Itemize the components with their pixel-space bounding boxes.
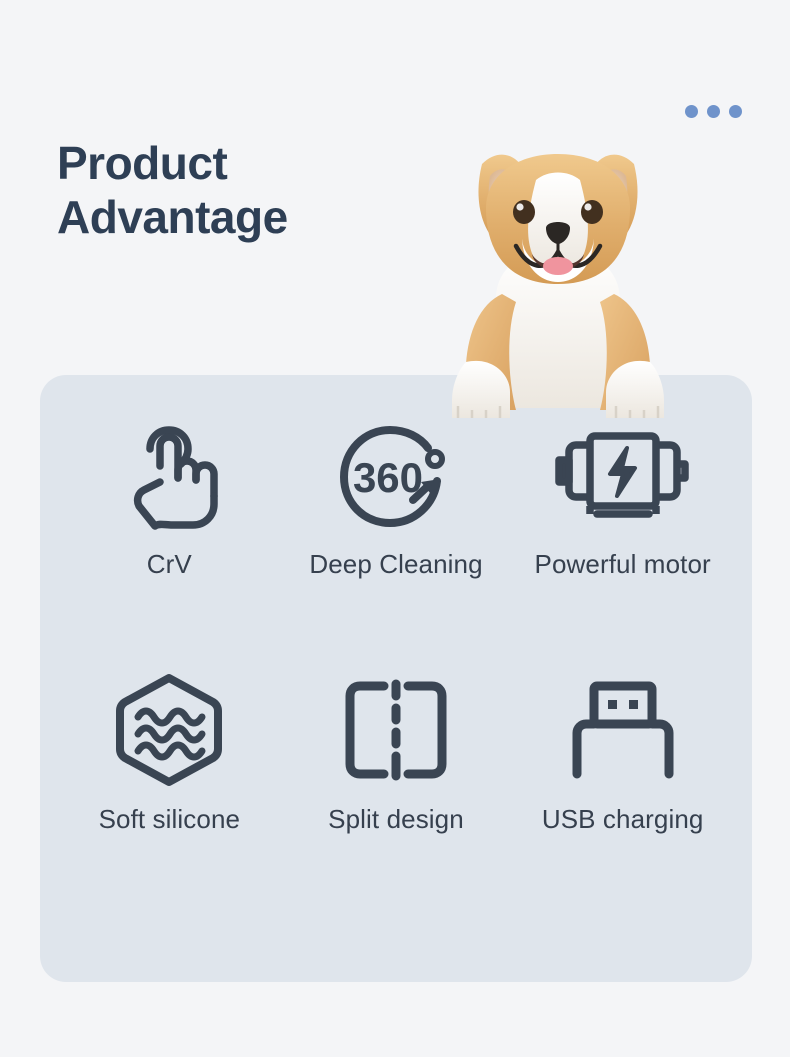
feature-label-soft-silicone: Soft silicone: [99, 804, 240, 835]
features-grid: CrV 360 Deep Cleaning: [40, 375, 752, 982]
corgi-hero-image: [424, 118, 692, 418]
usb-plug-icon: [568, 670, 678, 790]
360-rotation-icon: 360: [332, 417, 460, 535]
motor-battery-icon: [555, 417, 691, 535]
split-brackets-icon: [340, 670, 452, 790]
decor-dot-3: [729, 105, 742, 118]
feature-item-powerful-motor[interactable]: Powerful motor: [509, 417, 736, 670]
features-card: CrV 360 Deep Cleaning: [40, 375, 752, 982]
feature-label-deep-cleaning: Deep Cleaning: [309, 549, 482, 580]
tap-hand-icon: [117, 417, 221, 535]
feature-item-deep-cleaning[interactable]: 360 Deep Cleaning: [283, 417, 510, 670]
page-title-line-1: Product: [57, 136, 288, 190]
feature-item-soft-silicone[interactable]: Soft silicone: [56, 670, 283, 923]
feature-label-usb-charging: USB charging: [542, 804, 704, 835]
decor-dot-2: [707, 105, 720, 118]
feature-label-crv: CrV: [147, 549, 192, 580]
page-title-line-2: Advantage: [57, 190, 288, 244]
product-advantage-page: Product Advantage: [0, 0, 790, 1057]
feature-label-powerful-motor: Powerful motor: [535, 549, 711, 580]
page-title: Product Advantage: [57, 136, 288, 245]
feature-item-usb-charging[interactable]: USB charging: [509, 670, 736, 923]
decor-dots: [685, 105, 742, 118]
svg-text:360: 360: [353, 454, 423, 501]
feature-item-split-design[interactable]: Split design: [283, 670, 510, 923]
hexagon-waves-icon: [112, 670, 226, 790]
feature-item-crv[interactable]: CrV: [56, 417, 283, 670]
decor-dot-1: [685, 105, 698, 118]
feature-label-split-design: Split design: [328, 804, 464, 835]
